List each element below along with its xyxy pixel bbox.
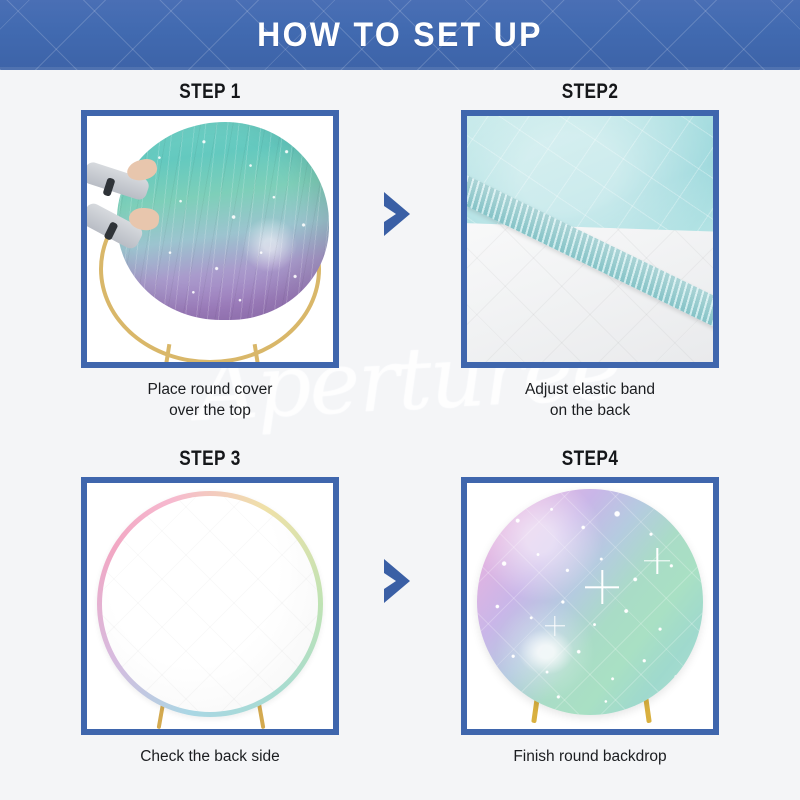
step-image-4: [461, 477, 719, 735]
page-title: HOW TO SET UP: [24, 0, 776, 70]
step-label-4: STEP4: [455, 445, 726, 473]
step-label-3: STEP 3: [75, 445, 346, 473]
backdrop-back-side: [97, 491, 323, 717]
sparkle-icon: [585, 570, 619, 604]
caption-line: over the top: [45, 400, 375, 421]
step-caption-4: Finish round backdrop: [425, 746, 755, 767]
header-banner: HOW TO SET UP: [0, 0, 800, 70]
step-caption-1: Place round cover over the top: [45, 379, 375, 421]
caption-line: Place round cover: [45, 379, 375, 400]
steps-grid: STEP 1: [0, 70, 800, 800]
chevron-right-icon: [380, 557, 414, 605]
step-card-2: STEP2 Adjust elastic band on the back: [425, 78, 755, 421]
step-image-1: [81, 110, 339, 368]
step-image-3: [81, 477, 339, 735]
sparkle-icon: [644, 548, 670, 574]
chevron-right-icon: [380, 190, 414, 238]
caption-line: Adjust elastic band: [425, 379, 755, 400]
white-back-face: [102, 496, 318, 712]
step-caption-3: Check the back side: [45, 746, 375, 767]
finished-backdrop: [477, 489, 703, 715]
caption-line: on the back: [425, 400, 755, 421]
step-card-3: STEP 3 Check the back side: [45, 445, 375, 767]
step-card-4: STEP4 Finish round backdrop: [425, 445, 755, 767]
step-label-1: STEP 1: [75, 78, 346, 106]
step-caption-2: Adjust elastic band on the back: [425, 379, 755, 421]
step-label-2: STEP2: [455, 78, 726, 106]
caption-line: Finish round backdrop: [425, 746, 755, 767]
caption-line: Check the back side: [45, 746, 375, 767]
how-to-set-up-infographic: HOW TO SET UP Aperturee STEP 1: [0, 0, 800, 800]
light-glow: [518, 629, 574, 675]
sparkle-icon: [545, 616, 565, 636]
step-image-2: [461, 110, 719, 368]
step-card-1: STEP 1: [45, 78, 375, 421]
